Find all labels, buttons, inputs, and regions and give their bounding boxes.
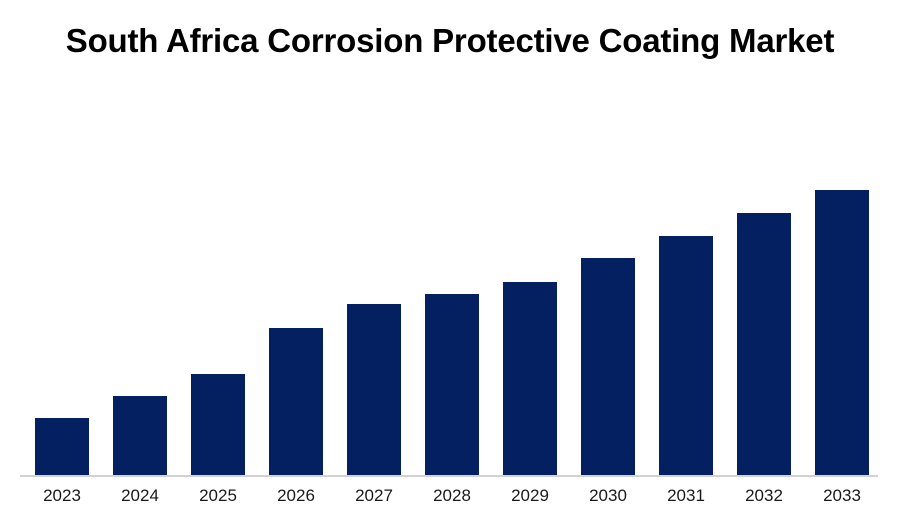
- bar-2027: [347, 304, 401, 476]
- x-tick-label-2027: 2027: [337, 486, 411, 506]
- x-tick-label-2029: 2029: [493, 486, 567, 506]
- bar-chart-figure: South Africa Corrosion Protective Coatin…: [0, 0, 900, 525]
- bar-2033: [815, 190, 869, 476]
- x-tick-label-2031: 2031: [649, 486, 723, 506]
- plot-area: 2023202420252026202720282029203020312032…: [0, 0, 900, 525]
- bar-2032: [737, 213, 791, 476]
- x-tick-label-2033: 2033: [805, 486, 879, 506]
- x-tick-label-2032: 2032: [727, 486, 801, 506]
- x-tick-label-2023: 2023: [25, 486, 99, 506]
- x-tick-label-2030: 2030: [571, 486, 645, 506]
- x-axis-line: [20, 475, 878, 477]
- x-tick-label-2025: 2025: [181, 486, 255, 506]
- x-tick-label-2024: 2024: [103, 486, 177, 506]
- bar-2030: [581, 258, 635, 476]
- bar-2031: [659, 236, 713, 476]
- bar-2029: [503, 282, 557, 476]
- x-tick-label-2028: 2028: [415, 486, 489, 506]
- x-tick-label-2026: 2026: [259, 486, 333, 506]
- bar-2023: [35, 418, 89, 476]
- bar-2025: [191, 374, 245, 476]
- bar-2026: [269, 328, 323, 476]
- bar-2024: [113, 396, 167, 476]
- bar-2028: [425, 294, 479, 476]
